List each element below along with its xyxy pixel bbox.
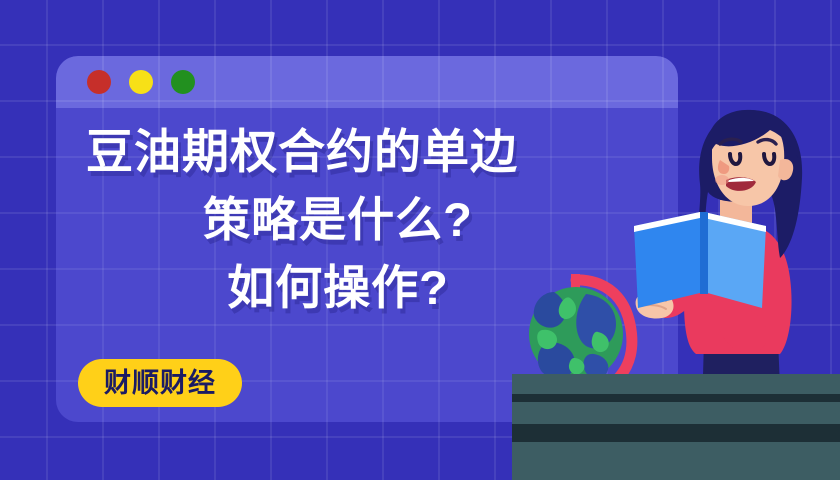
- brand-badge[interactable]: 财顺财经: [78, 359, 242, 407]
- brand-badge-label: 财顺财经: [104, 370, 216, 397]
- maximize-dot[interactable]: [171, 70, 195, 94]
- lectern-desk: [512, 374, 840, 480]
- close-dot[interactable]: [87, 70, 111, 94]
- window-controls: [87, 70, 195, 94]
- illustration: [512, 96, 840, 480]
- minimize-dot[interactable]: [129, 70, 153, 94]
- poster-canvas: 豆油期权合约的单边 策略是什么? 如何操作? 财顺财经: [0, 0, 840, 480]
- open-book-icon: [634, 212, 766, 308]
